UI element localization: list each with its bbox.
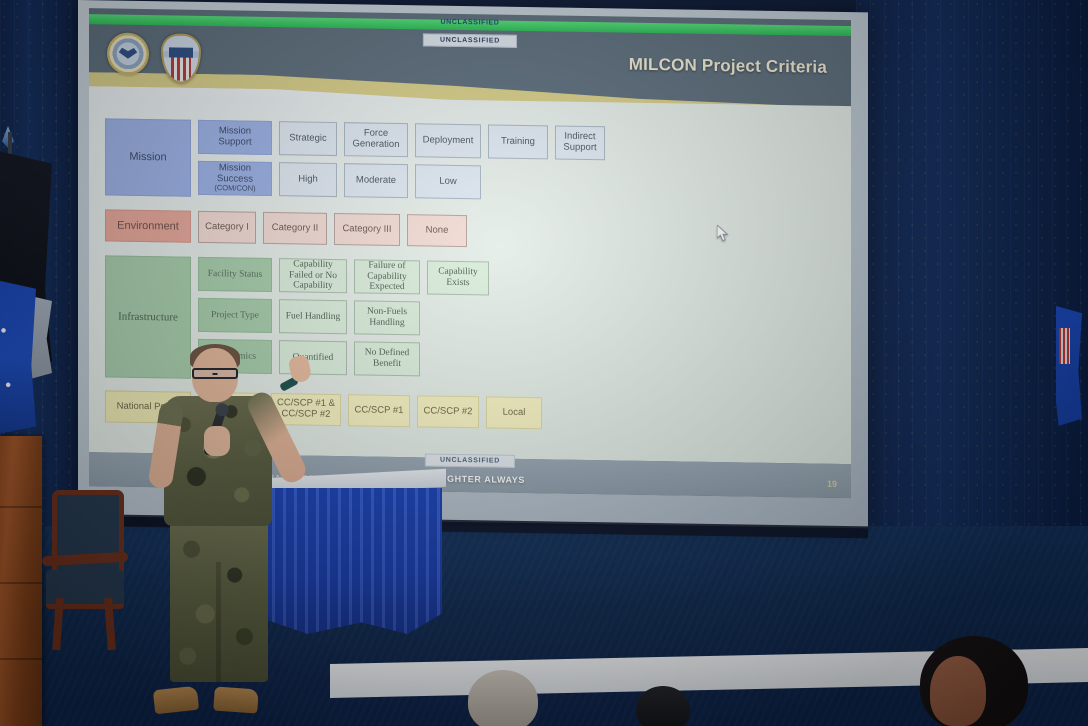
mission-group: Mission [105,118,191,196]
cell-training: Training [488,124,548,159]
cell-capability-exists: Capability Exists [427,260,489,295]
mission-success-note: (COM/CON) [214,185,255,194]
cell-low: Low [415,164,481,199]
cell-none: None [407,214,467,247]
mission-success-row: Mission Success (COM/CON) High Moderate … [198,161,605,201]
cell-ccscp-1: CC/SCP #1 [348,394,410,427]
mission-success-label: Mission Success (COM/CON) [198,161,272,196]
mission-category-label: Mission [105,118,191,196]
project-type-row: Project Type Fuel Handling Non-Fuels Han… [198,298,489,337]
cell-ccscp-2: CC/SCP #2 [417,395,479,428]
cell-fuel-handling: Fuel Handling [279,299,347,334]
cell-high: High [279,162,337,197]
presenter [148,348,308,708]
audience-head [468,670,538,726]
slide-page-number: 19 [827,479,837,489]
cell-no-defined-benefit: No Defined Benefit [354,341,420,376]
mission-support-row: Mission Support Strategic Force Generati… [198,120,605,160]
matrix-row-environment: Environment Category I Category II Categ… [105,209,841,253]
cell-strategic: Strategic [279,121,337,156]
classification-box-bottom: UNCLASSIFIED [425,453,515,467]
cell-non-fuels-handling: Non-Fuels Handling [354,300,420,335]
cell-indirect-support: Indirect Support [555,125,605,160]
cell-category-2: Category II [263,212,327,245]
cell-deployment: Deployment [415,123,481,158]
mission-subrows: Mission Support Strategic Force Generati… [198,120,605,203]
dod-seal-icon [107,32,149,75]
matrix-row-mission: Mission Mission Support Strategic Force … [105,118,841,207]
cell-moderate: Moderate [344,163,408,198]
environment-category-label: Environment [105,209,191,242]
audience-head [636,686,690,726]
cell-failure-expected: Failure of Capability Expected [354,259,420,294]
project-type-label: Project Type [198,298,272,333]
audience-head [920,636,1028,726]
facility-status-row: Facility Status Capability Failed or No … [198,257,489,296]
mission-support-label: Mission Support [198,120,272,155]
cell-category-3: Category III [334,213,400,246]
cell-force-generation: Force Generation [344,122,408,157]
flag-blue-left [0,276,36,436]
eyeglasses-icon [192,368,238,379]
flag-blue-right [1056,306,1082,426]
cell-local: Local [486,396,542,429]
screenshot-root: UNCLASSIFIED UNCLASSIFIED MILCON Project… [0,0,1088,726]
mission-success-text: Mission Success [202,163,268,185]
facility-status-label: Facility Status [198,257,272,292]
cell-category-1: Category I [198,211,256,244]
slide-title: MILCON Project Criteria [629,55,827,78]
cell-capability-failed: Capability Failed or No Capability [279,258,347,293]
stage-chair [40,490,136,650]
wooden-podium [0,436,42,726]
